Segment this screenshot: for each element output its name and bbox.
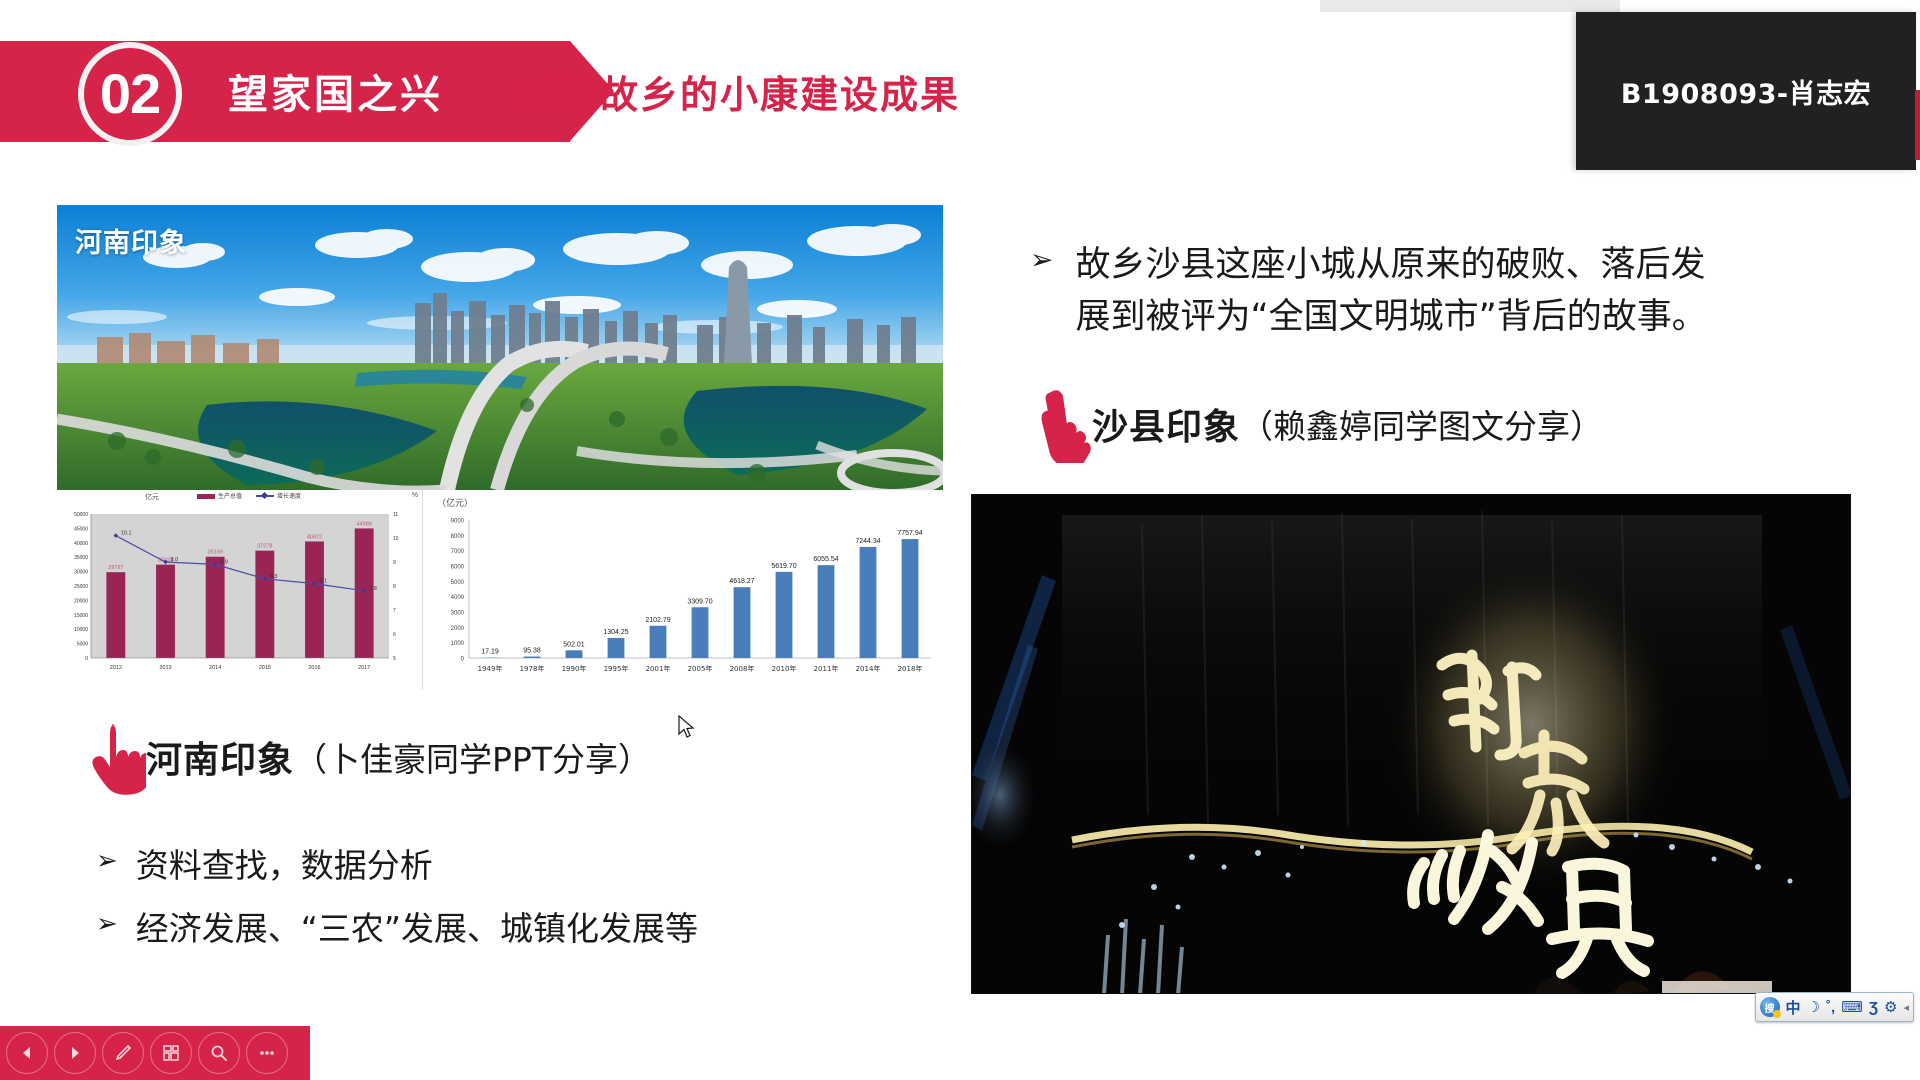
triangle-right-icon bbox=[67, 1045, 83, 1061]
chart1-ytick: 25000 bbox=[74, 584, 88, 590]
chart2-ytick: 0 bbox=[461, 657, 465, 663]
chart1-xtick: 2017 bbox=[358, 665, 370, 671]
chart1-ytick: 35000 bbox=[74, 555, 88, 561]
chart2-bar-label: 3309.70 bbox=[687, 598, 712, 605]
chart2-bar-label: 17.19 bbox=[481, 649, 499, 656]
header-subtitle: 感受故乡的小康建设成果 bbox=[520, 64, 960, 119]
ime-toolbar[interactable]: 搜 中 ☽ ˚, ⌨ Ʒ ⚙ ◂ bbox=[1755, 992, 1914, 1022]
top-grey-strip bbox=[1320, 0, 1620, 12]
chart1-y2tick: 8 bbox=[393, 584, 396, 590]
shaxian-caption-normal: （赖鑫婷同学图文分享） bbox=[1240, 400, 1603, 448]
chart2-bar-label: 502.01 bbox=[563, 641, 585, 648]
chart2-bar-label: 1304.25 bbox=[603, 629, 628, 636]
chart1-legend-line: 增长速度 bbox=[256, 491, 301, 500]
chart1-ytick: 15000 bbox=[74, 613, 88, 619]
ime-settings[interactable]: ⚙ bbox=[1884, 998, 1897, 1016]
chart2-xtick: 2001年 bbox=[646, 664, 671, 673]
city-photo-illustration bbox=[57, 205, 943, 490]
left-bullet-list: ➢ 资料查找，数据分析 ➢ 经济发展、“三农”发展、城镇化发展等 bbox=[96, 845, 698, 972]
right-bullet-line2: 展到被评为“全国文明城市”背后的故事。 bbox=[1075, 297, 1706, 337]
chart1-ytick: 20000 bbox=[74, 598, 88, 604]
ime-halfwidth-toggle[interactable]: ☽ bbox=[1807, 998, 1820, 1016]
chart2-xtick: 1990年 bbox=[562, 664, 587, 673]
chart2-bar bbox=[566, 650, 583, 658]
pen-button[interactable] bbox=[102, 1032, 144, 1074]
chart2-xtick: 2008年 bbox=[730, 664, 755, 673]
chart1-bar bbox=[206, 557, 225, 658]
chart2-ylabel: （亿元） bbox=[437, 496, 473, 509]
zoom-button[interactable] bbox=[198, 1032, 240, 1074]
chart1-line-label: 8.9 bbox=[220, 559, 228, 565]
chart2-xtick: 2005年 bbox=[688, 664, 713, 673]
chart2-bar bbox=[902, 539, 919, 658]
chart1-y2tick: 9 bbox=[393, 560, 396, 566]
list-item: ➢ 资料查找，数据分析 bbox=[96, 845, 698, 886]
henan-caption-normal: （卜佳豪同学PPT分享） bbox=[294, 733, 651, 781]
chart2-xtick: 1949年 bbox=[478, 664, 503, 673]
chart1-ytick: 40000 bbox=[74, 541, 88, 547]
shaxian-night-video[interactable] bbox=[971, 494, 1851, 994]
more-options-button[interactable] bbox=[246, 1032, 288, 1074]
pen-icon bbox=[113, 1043, 133, 1063]
bullet-text: 资料查找，数据分析 bbox=[136, 845, 433, 886]
chart1-ytick: 45000 bbox=[74, 526, 88, 532]
chart2-bar-label: 4618.27 bbox=[729, 578, 754, 585]
chart1-bar-label: 29797 bbox=[108, 565, 123, 571]
chart-shaxian-gdp: （亿元） 01000200030004000500060007000800090… bbox=[423, 490, 942, 690]
shaxian-caption-row: 沙县印象 （赖鑫婷同学图文分享） bbox=[1030, 385, 1603, 463]
section-number-circle: 02 bbox=[78, 42, 182, 146]
chart1-canvas: 0500010000150002000025000300003500040000… bbox=[57, 490, 423, 690]
chart2-bar-label: 2102.79 bbox=[645, 617, 670, 624]
list-item: ➢ 经济发展、“三农”发展、城镇化发展等 bbox=[96, 908, 698, 949]
pointing-hand-up-icon bbox=[1030, 385, 1092, 463]
chart1-bar-label: 40472 bbox=[307, 534, 322, 540]
photo-overlay-label: 河南印象 bbox=[75, 221, 187, 260]
shaxian-caption-strong: 沙县印象 bbox=[1092, 398, 1240, 450]
night-video-frame bbox=[972, 495, 1851, 994]
chart1-y2tick: 6 bbox=[393, 632, 396, 638]
presenter-name-badge: B1908093-肖志宏 bbox=[1576, 12, 1916, 170]
chart1-line-label: 8.1 bbox=[320, 579, 328, 585]
badge-red-edge bbox=[1915, 90, 1920, 160]
chart1-ytick: 10000 bbox=[74, 627, 88, 633]
chart1-y2tick: 10 bbox=[393, 536, 399, 542]
chart2-xtick: 1978年 bbox=[520, 664, 545, 673]
chart1-bar bbox=[156, 565, 175, 658]
bullet-text: 经济发展、“三农”发展、城镇化发展等 bbox=[136, 908, 698, 949]
chart1-ytick: 50000 bbox=[74, 512, 88, 518]
chart2-bar bbox=[524, 657, 541, 658]
presenter-toolbar[interactable] bbox=[0, 1026, 310, 1080]
chart1-y2tick: 5 bbox=[393, 656, 396, 662]
chart2-bar bbox=[818, 565, 835, 658]
chart1-ytick: 5000 bbox=[77, 642, 88, 648]
chart2-bar bbox=[776, 572, 793, 658]
chart2-canvas: 010002000300040005000600070008000900017.… bbox=[423, 490, 942, 690]
chart1-bar-label: 44988 bbox=[357, 521, 372, 527]
chart2-ytick: 2000 bbox=[451, 626, 465, 632]
henan-city-photo: 河南印象 bbox=[57, 205, 943, 490]
presentation-slide: 02 望家国之兴 感受故乡的小康建设成果 B1908093-肖志宏 bbox=[0, 0, 1920, 1080]
chart1-line-label: 7.8 bbox=[369, 586, 377, 592]
bullet-marker-icon: ➢ bbox=[1030, 240, 1053, 281]
bullet-marker-icon: ➢ bbox=[96, 845, 118, 878]
ime-mode-chinese[interactable]: 中 bbox=[1786, 997, 1801, 1018]
chart1-legend-bar: 生产总值 bbox=[197, 491, 242, 500]
chart2-bar-label: 7244.34 bbox=[855, 538, 880, 545]
ellipsis-icon bbox=[257, 1043, 277, 1063]
chart1-plot-area bbox=[91, 514, 389, 658]
chart2-ytick: 3000 bbox=[451, 611, 465, 617]
grid-icon bbox=[161, 1043, 181, 1063]
chart1-xtick: 2015 bbox=[259, 665, 271, 671]
chart1-bar-label: 37278 bbox=[257, 544, 272, 550]
chart1-line-label: 10.1 bbox=[121, 531, 132, 537]
ime-soft-keyboard[interactable]: ⌨ bbox=[1841, 998, 1863, 1016]
chart2-ytick: 1000 bbox=[451, 641, 465, 647]
chart1-legend: 生产总值 增长速度 bbox=[197, 491, 301, 500]
chart1-xtick: 2013 bbox=[159, 665, 171, 671]
prev-slide-button[interactable] bbox=[6, 1032, 48, 1074]
henan-caption-row: 河南印象 （卜佳豪同学PPT分享） bbox=[84, 718, 651, 796]
chart1-xtick: 2014 bbox=[209, 665, 221, 671]
chart2-bar-label: 6055.54 bbox=[813, 556, 838, 563]
magnifier-icon bbox=[209, 1043, 229, 1063]
chart2-bar bbox=[608, 638, 625, 658]
chart2-bar bbox=[692, 607, 709, 658]
charts-strip: 亿元 % 生产总值 增长速度 0500010000150002000025000… bbox=[57, 490, 943, 690]
henan-caption-strong: 河南印象 bbox=[146, 731, 294, 783]
chart1-bar bbox=[305, 541, 324, 658]
sogou-logo-icon[interactable]: 搜 bbox=[1760, 997, 1780, 1017]
chart2-ytick: 5000 bbox=[451, 580, 465, 586]
chart1-line-label: 8.3 bbox=[270, 574, 278, 580]
chart1-y2label: % bbox=[412, 492, 418, 499]
chart2-xtick: 2014年 bbox=[856, 664, 881, 673]
chart2-bar bbox=[860, 547, 877, 658]
chart1-xtick: 2012 bbox=[110, 665, 122, 671]
chart1-xtick: 2016 bbox=[308, 665, 320, 671]
chart1-bar bbox=[106, 572, 125, 658]
right-bullet-text: 故乡沙县这座小城从原来的破败、落后发 展到被评为“全国文明城市”背后的故事。 bbox=[1075, 240, 1706, 344]
chart1-ytick: 0 bbox=[85, 656, 88, 662]
chart2-xtick: 1995年 bbox=[604, 664, 629, 673]
chart-henan-gdp-growth: 亿元 % 生产总值 增长速度 0500010000150002000025000… bbox=[57, 490, 423, 690]
presenter-name-label: B1908093-肖志宏 bbox=[1621, 72, 1871, 111]
chart2-ytick: 8000 bbox=[451, 534, 465, 540]
chart2-ytick: 9000 bbox=[451, 519, 465, 525]
header-title: 望家国之兴 bbox=[228, 62, 443, 120]
chart2-ytick: 4000 bbox=[451, 595, 465, 601]
slides-grid-button[interactable] bbox=[150, 1032, 192, 1074]
ime-collapse-arrow[interactable]: ◂ bbox=[1903, 1001, 1909, 1014]
section-number: 02 bbox=[100, 66, 160, 122]
chart1-line-label: 9.0 bbox=[171, 557, 179, 563]
chart1-ylabel: 亿元 bbox=[145, 492, 159, 502]
chart2-bar-label: 7757.94 bbox=[897, 530, 922, 537]
pointing-hand-right-icon bbox=[84, 718, 146, 796]
right-bullet-line1: 故乡沙县这座小城从原来的破败、落后发 bbox=[1075, 245, 1705, 285]
chart2-xtick: 2010年 bbox=[772, 664, 797, 673]
chart2-ytick: 6000 bbox=[451, 565, 465, 571]
chart2-bar-label: 95.38 bbox=[523, 648, 541, 655]
chart2-bar bbox=[734, 587, 751, 658]
ime-punctuation-toggle[interactable]: ˚, bbox=[1826, 999, 1835, 1016]
ime-voice-input[interactable]: Ʒ bbox=[1869, 999, 1878, 1016]
mouse-cursor bbox=[678, 715, 696, 741]
chart2-bar-label: 5619.70 bbox=[771, 563, 796, 570]
right-bullet-paragraph: ➢ 故乡沙县这座小城从原来的破败、落后发 展到被评为“全国文明城市”背后的故事。 bbox=[1030, 240, 1900, 344]
chart1-bar bbox=[355, 528, 374, 658]
triangle-left-icon bbox=[19, 1045, 35, 1061]
chart1-y2tick: 11 bbox=[393, 512, 398, 518]
chart2-xtick: 2011年 bbox=[814, 664, 839, 673]
chart1-bar-label: 35169 bbox=[208, 550, 223, 556]
chart2-xtick: 2018年 bbox=[898, 664, 923, 673]
chart1-ytick: 30000 bbox=[74, 570, 88, 576]
chart1-y2tick: 7 bbox=[393, 608, 396, 614]
chart2-ytick: 7000 bbox=[451, 549, 465, 555]
next-slide-button[interactable] bbox=[54, 1032, 96, 1074]
bullet-marker-icon: ➢ bbox=[96, 908, 118, 941]
chart2-bar bbox=[650, 626, 667, 658]
chart1-bar bbox=[255, 551, 274, 658]
